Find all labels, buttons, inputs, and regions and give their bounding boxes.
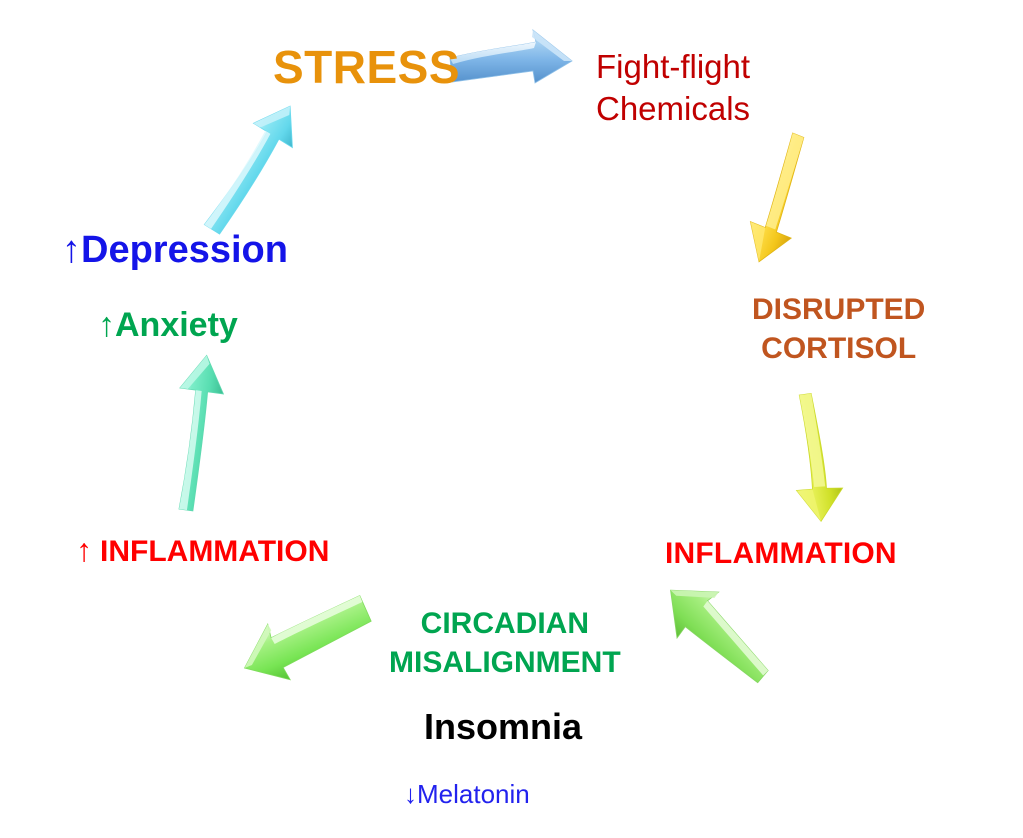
node-fight-flight-chemicals: Fight-flight Chemicals (596, 46, 750, 130)
node-inflammation-left-label: INFLAMMATION (100, 535, 329, 568)
node-stress: STRESS (273, 42, 460, 94)
arrow-inflammation-to-circadian (646, 574, 791, 699)
node-circadian-misalignment: CIRCADIAN MISALIGNMENT (389, 604, 621, 682)
arrow-fightflight-to-cortisol (728, 128, 868, 278)
node-melatonin-decreased: ↓Melatonin (404, 780, 530, 809)
node-disrupted-cortisol: DISRUPTED CORTISOL (752, 290, 925, 368)
node-inflammation-left: ↑INFLAMMATION (76, 533, 329, 569)
node-insomnia: Insomnia (424, 707, 582, 747)
arrow-circadian-to-inflammation (226, 572, 376, 687)
arrow-depression-to-stress (184, 92, 334, 252)
up-arrow-icon: ↑ (76, 532, 92, 568)
node-inflammation-right: INFLAMMATION (665, 537, 897, 571)
diagram-canvas: STRESS Fight-flight Chemicals DISRUPTED … (0, 0, 1023, 838)
arrow-stress-to-fightflight (440, 26, 590, 116)
arrow-cortisol-to-inflammation (766, 386, 886, 526)
arrow-inflammation-to-anxiety (146, 344, 266, 519)
node-anxiety-increased: ↑Anxiety (98, 306, 238, 344)
node-depression-increased: ↑Depression (62, 229, 288, 272)
